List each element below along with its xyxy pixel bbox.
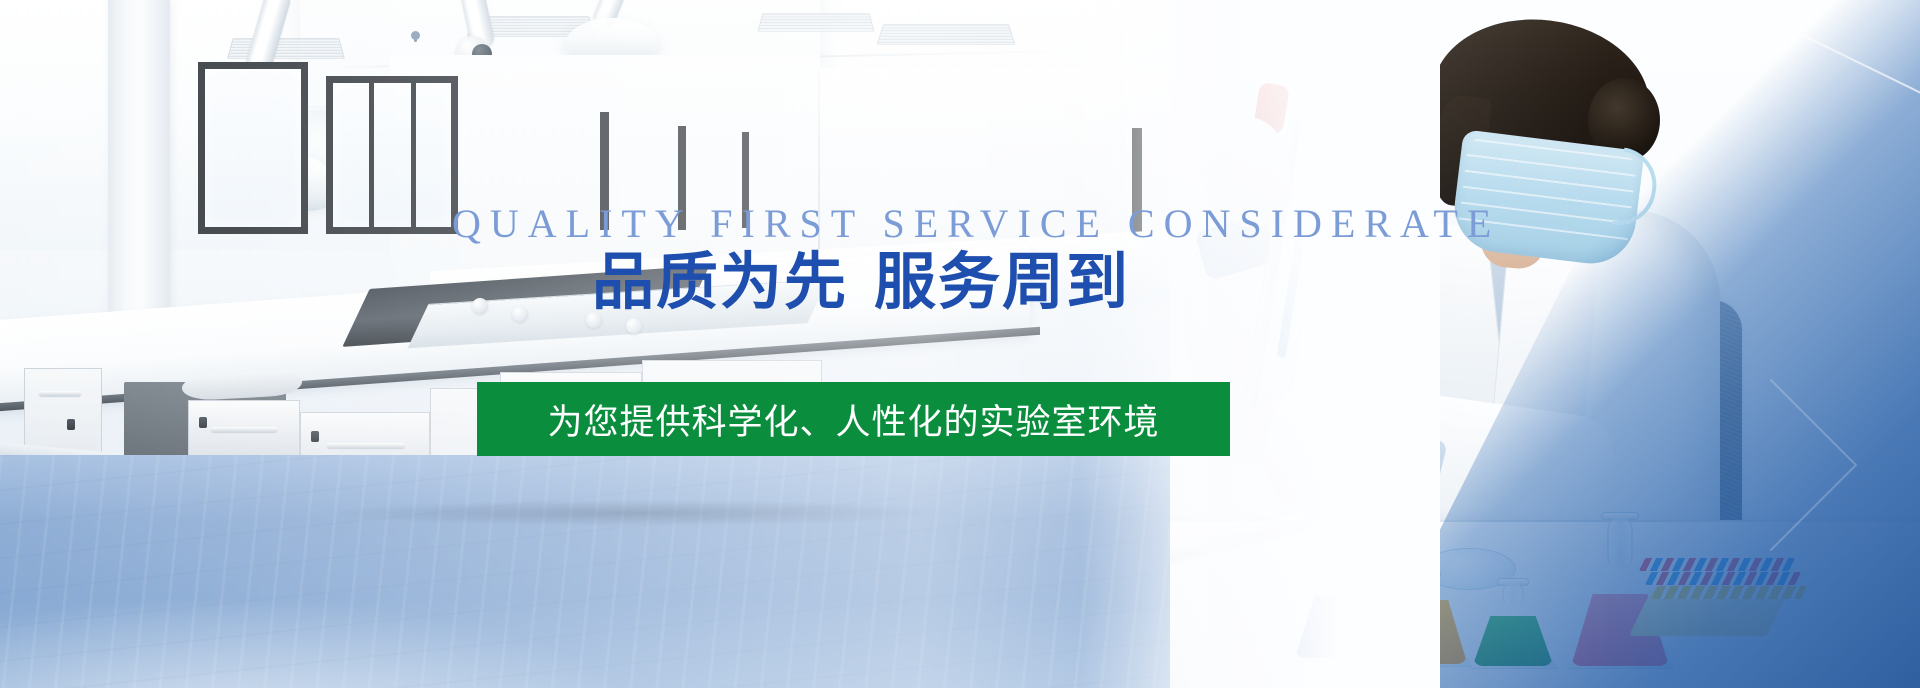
headline-part-2: 服务周到 (874, 245, 1130, 318)
service-outlet-icon (512, 306, 528, 322)
drawer-handle (327, 443, 405, 448)
cabinet-handle (39, 391, 81, 396)
epoxy-floor (0, 455, 1240, 688)
window-icon (326, 76, 458, 234)
erlenmeyer-flask-blue (1292, 500, 1388, 660)
erlenmeyer-flask-orange (1378, 570, 1470, 666)
banner-eyebrow-text: QUALITY FIRST SERVICE CONSIDERATE (452, 200, 1500, 247)
erlenmeyer-flask-green (1470, 578, 1556, 668)
window-mullion (369, 83, 374, 227)
tip-row (1651, 586, 1807, 599)
banner-headline: 品质为先服务周到 (592, 247, 1130, 316)
drawer-lock-icon (311, 431, 319, 442)
window-icon (198, 62, 308, 234)
service-outlet-icon (626, 318, 642, 334)
promo-banner: QUALITY FIRST SERVICE CONSIDERATE 品质为先服务… (0, 0, 1920, 688)
flask-liquid (1473, 616, 1554, 666)
floor-shadow (322, 500, 957, 526)
flask-liquid (1381, 600, 1467, 664)
drawer-lock-icon (199, 417, 207, 428)
flask-neck (1503, 583, 1524, 607)
banner-subtitle-bar: 为您提供科学化、人性化的实验室环境 (477, 382, 1230, 456)
tip-row (1645, 572, 1801, 585)
tip-row (1639, 558, 1795, 571)
banner-subtitle-text: 为您提供科学化、人性化的实验室环境 (547, 394, 1159, 445)
cabinet-lock-icon (67, 419, 75, 430)
service-outlet-icon (472, 298, 488, 314)
drawer-handle (211, 427, 277, 432)
technician-photo (1170, 0, 1920, 688)
window-mullion (411, 83, 416, 227)
headline-part-1: 品质为先 (592, 245, 848, 318)
flask-neck (1328, 505, 1352, 551)
dome-hood (564, 18, 660, 60)
structural-column (108, 0, 170, 330)
lab-interior-photo (0, 0, 1240, 688)
drawer (189, 401, 299, 457)
air-vent-icon (757, 13, 874, 31)
air-vent-icon (877, 24, 1016, 45)
flask-neck (1608, 517, 1633, 569)
